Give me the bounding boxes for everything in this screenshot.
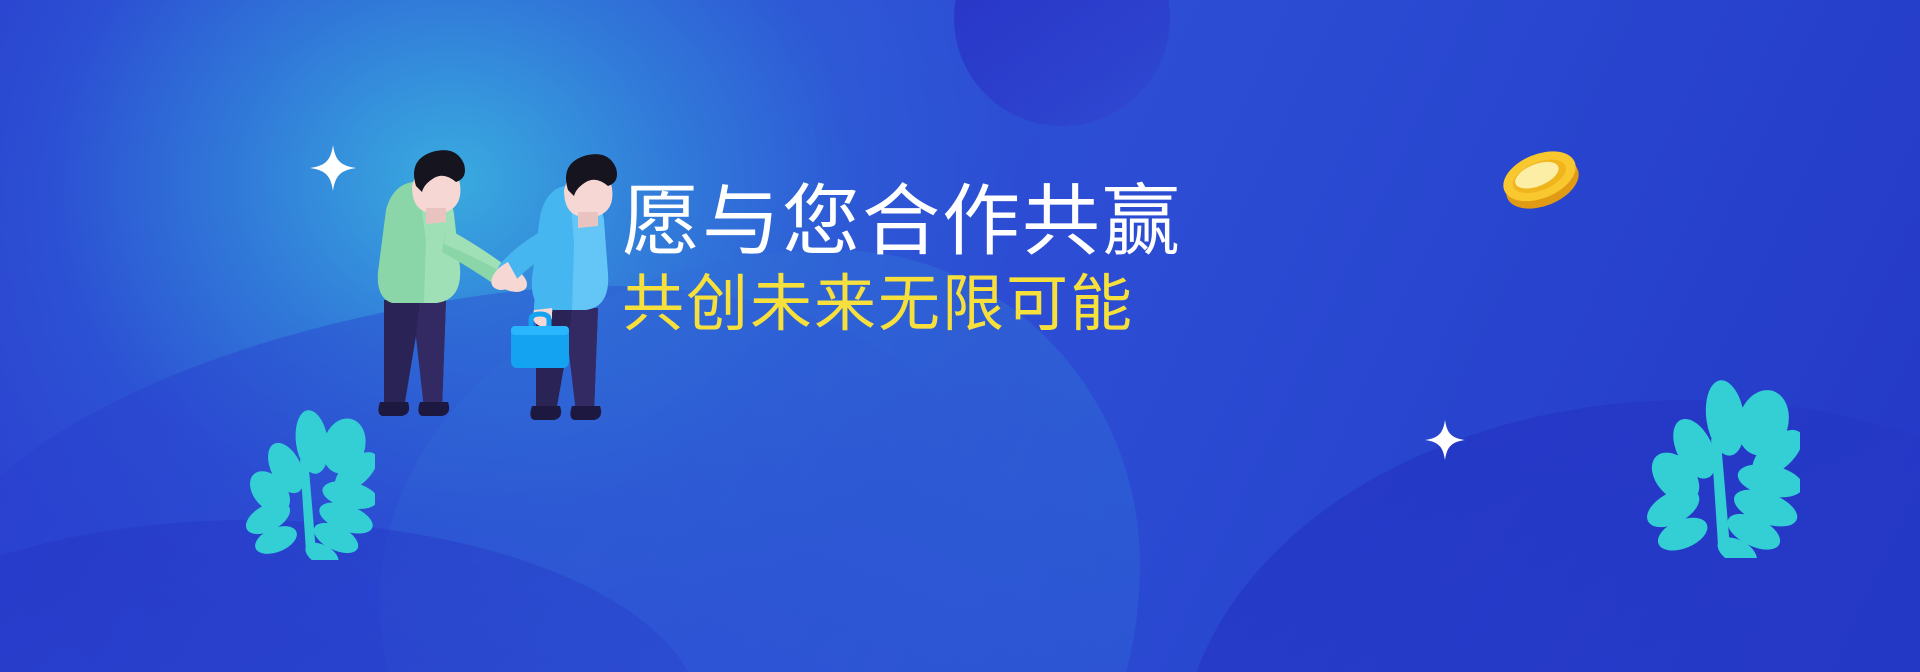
promo-banner: 愿与您合作共赢 共创未来无限可能 — [0, 0, 1920, 672]
headline-block: 愿与您合作共赢 共创未来无限可能 — [622, 178, 1282, 340]
headline-primary: 愿与您合作共赢 — [622, 178, 1282, 264]
sparkle-icon — [1425, 420, 1465, 460]
person-blue-shirt — [491, 154, 617, 420]
headline-secondary: 共创未来无限可能 — [622, 270, 1282, 340]
monstera-leaf-icon — [1640, 368, 1800, 558]
handshake-illustration — [350, 140, 640, 435]
gold-coin-icon — [1498, 140, 1584, 221]
